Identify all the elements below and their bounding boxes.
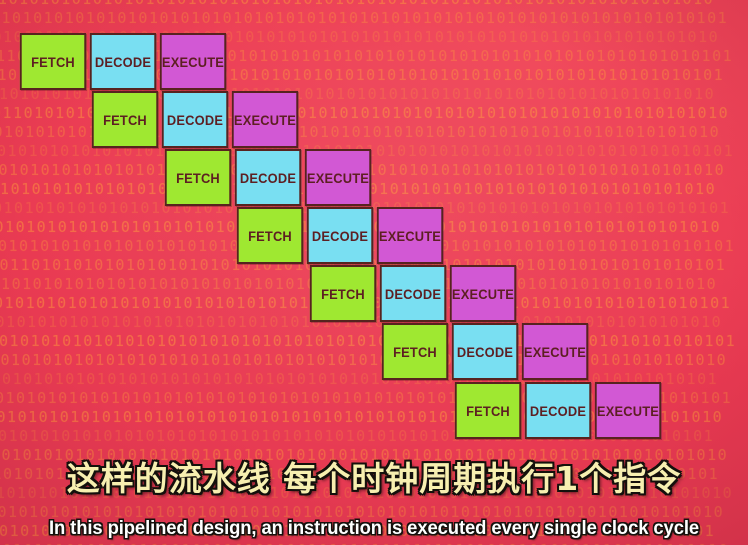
pipeline-stage-decode: DECODE	[90, 33, 156, 90]
pipeline-stage-label: DECODE	[95, 54, 151, 70]
pipeline-stage-fetch: FETCH	[20, 33, 86, 90]
pipeline-stage-label: FETCH	[321, 286, 365, 302]
pipeline-stage-label: FETCH	[466, 403, 510, 419]
pipeline-stage-label: FETCH	[103, 112, 147, 128]
pipeline-stage-decode: DECODE	[380, 265, 446, 322]
pipeline-stage-decode: DECODE	[162, 91, 228, 148]
pipeline-stage-fetch: FETCH	[92, 91, 158, 148]
pipeline-instruction-row: FETCHDECODEEXECUTE	[162, 149, 374, 206]
pipeline-stage-label: DECODE	[457, 344, 513, 360]
pipeline-stage-label: EXECUTE	[307, 170, 369, 186]
pipeline-stage-execute: EXECUTE	[305, 149, 371, 206]
pipeline-stage-execute: EXECUTE	[522, 323, 588, 380]
pipeline-instruction-row: FETCHDECODEEXECUTE	[17, 33, 229, 90]
pipeline-stage-decode: DECODE	[452, 323, 518, 380]
pipeline-stage-execute: EXECUTE	[450, 265, 516, 322]
pipeline-stage-label: DECODE	[312, 228, 368, 244]
subtitle-chinese: 这样的流水线 每个时钟周期执行1个指令	[0, 459, 748, 499]
pipeline-stage-execute: EXECUTE	[377, 207, 443, 264]
pipeline-stage-decode: DECODE	[525, 382, 591, 439]
pipeline-stage-fetch: FETCH	[382, 323, 448, 380]
pipeline-instruction-row: FETCHDECODEEXECUTE	[452, 382, 664, 439]
pipeline-stage-label: DECODE	[530, 403, 586, 419]
pipeline-stage-fetch: FETCH	[455, 382, 521, 439]
pipeline-stage-label: FETCH	[176, 170, 220, 186]
pipeline-stage-decode: DECODE	[235, 149, 301, 206]
pipeline-stage-label: EXECUTE	[452, 286, 514, 302]
pipeline-stage-fetch: FETCH	[237, 207, 303, 264]
pipeline-stage-label: EXECUTE	[379, 228, 441, 244]
pipeline-instruction-row: FETCHDECODEEXECUTE	[89, 91, 301, 148]
subtitle-area: 这样的流水线 每个时钟周期执行1个指令 In this pipelined de…	[0, 453, 748, 545]
pipeline-stage-label: EXECUTE	[162, 54, 224, 70]
subtitle-english: In this pipelined design, an instruction…	[11, 517, 737, 541]
pipeline-stage-execute: EXECUTE	[232, 91, 298, 148]
pipeline-stage-label: FETCH	[393, 344, 437, 360]
pipeline-stage-decode: DECODE	[307, 207, 373, 264]
pipeline-stage-fetch: FETCH	[165, 149, 231, 206]
pipeline-stage-label: FETCH	[31, 54, 75, 70]
video-frame: 1010101010101010101010101010101010101010…	[0, 0, 748, 545]
pipeline-stage-label: EXECUTE	[524, 344, 586, 360]
pipeline-instruction-row: FETCHDECODEEXECUTE	[234, 207, 446, 264]
pipeline-stage-execute: EXECUTE	[160, 33, 226, 90]
instruction-pipeline-diagram: FETCHDECODEEXECUTEFETCHDECODEEXECUTEFETC…	[0, 0, 748, 470]
pipeline-stage-label: EXECUTE	[234, 112, 296, 128]
pipeline-instruction-row: FETCHDECODEEXECUTE	[307, 265, 519, 322]
pipeline-instruction-row: FETCHDECODEEXECUTE	[379, 323, 591, 380]
pipeline-stage-label: EXECUTE	[597, 403, 659, 419]
pipeline-stage-label: FETCH	[248, 228, 292, 244]
pipeline-stage-label: DECODE	[385, 286, 441, 302]
pipeline-stage-execute: EXECUTE	[595, 382, 661, 439]
pipeline-stage-label: DECODE	[240, 170, 296, 186]
pipeline-stage-label: DECODE	[167, 112, 223, 128]
pipeline-stage-fetch: FETCH	[310, 265, 376, 322]
